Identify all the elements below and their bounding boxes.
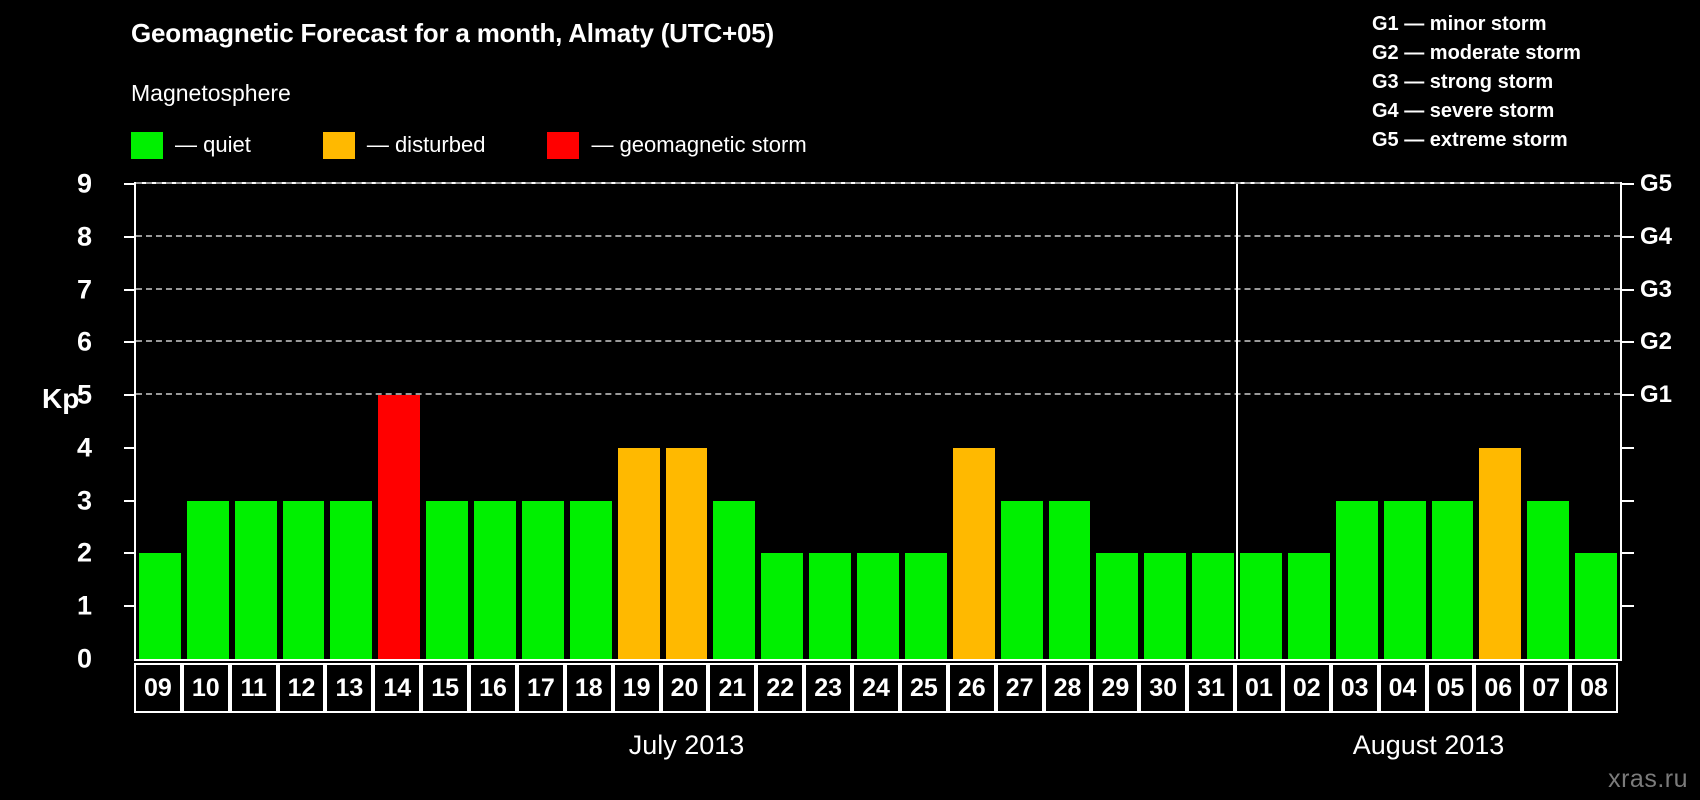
bar-slot xyxy=(1572,184,1620,659)
day-label-04[interactable]: 04 xyxy=(1379,663,1427,713)
bar-day-14[interactable] xyxy=(378,395,420,659)
bar-day-05[interactable] xyxy=(1432,501,1474,659)
bar-slot xyxy=(758,184,806,659)
bar-day-04[interactable] xyxy=(1384,501,1426,659)
day-label-03[interactable]: 03 xyxy=(1331,663,1379,713)
bar-day-11[interactable] xyxy=(235,501,277,659)
g-tick-mark-minor xyxy=(1622,447,1634,449)
bar-slot xyxy=(423,184,471,659)
y-tick-label-3: 3 xyxy=(52,485,92,516)
day-label-23[interactable]: 23 xyxy=(804,663,852,713)
bar-day-31[interactable] xyxy=(1192,553,1234,659)
bar-slot xyxy=(184,184,232,659)
month-label-july: July 2013 xyxy=(629,730,745,761)
bar-slot xyxy=(1524,184,1572,659)
y-tick-label-5: 5 xyxy=(52,380,92,411)
day-label-22[interactable]: 22 xyxy=(756,663,804,713)
bar-slot xyxy=(1141,184,1189,659)
bar-slot xyxy=(854,184,902,659)
bar-day-16[interactable] xyxy=(474,501,516,659)
y-tick-label-0: 0 xyxy=(52,644,92,675)
y-tick-label-8: 8 xyxy=(52,221,92,252)
bar-day-23[interactable] xyxy=(809,553,851,659)
bar-slot xyxy=(1285,184,1333,659)
g-tick-mark xyxy=(1622,394,1634,396)
day-label-17[interactable]: 17 xyxy=(517,663,565,713)
bar-slot xyxy=(710,184,758,659)
day-label-12[interactable]: 12 xyxy=(278,663,326,713)
day-label-15[interactable]: 15 xyxy=(421,663,469,713)
month-label-august: August 2013 xyxy=(1353,730,1505,761)
bar-day-19[interactable] xyxy=(618,448,660,659)
bar-slot xyxy=(950,184,998,659)
g-tick-mark xyxy=(1622,341,1634,343)
y-tick-label-4: 4 xyxy=(52,432,92,463)
bar-slot xyxy=(1237,184,1285,659)
bar-day-21[interactable] xyxy=(713,501,755,659)
day-label-11[interactable]: 11 xyxy=(230,663,278,713)
day-label-30[interactable]: 30 xyxy=(1139,663,1187,713)
g-tick-mark-minor xyxy=(1622,552,1634,554)
bar-day-26[interactable] xyxy=(953,448,995,659)
bar-slot xyxy=(375,184,423,659)
day-label-28[interactable]: 28 xyxy=(1044,663,1092,713)
bar-day-09[interactable] xyxy=(139,553,181,659)
bar-day-20[interactable] xyxy=(666,448,708,659)
day-label-14[interactable]: 14 xyxy=(373,663,421,713)
bar-slot xyxy=(1381,184,1429,659)
bar-slot xyxy=(471,184,519,659)
day-label-10[interactable]: 10 xyxy=(182,663,230,713)
bar-slot xyxy=(327,184,375,659)
bar-slot xyxy=(567,184,615,659)
g-tick-mark-minor xyxy=(1622,605,1634,607)
bar-day-07[interactable] xyxy=(1527,501,1569,659)
bar-day-27[interactable] xyxy=(1001,501,1043,659)
bar-slot xyxy=(519,184,567,659)
bars-layer xyxy=(136,184,1620,659)
day-label-13[interactable]: 13 xyxy=(325,663,373,713)
y-tick-label-6: 6 xyxy=(52,327,92,358)
y-tick-label-1: 1 xyxy=(52,591,92,622)
bar-slot xyxy=(902,184,950,659)
bar-day-29[interactable] xyxy=(1096,553,1138,659)
chart-plot-area: Kp 0123456789 G1G2G3G4G5 091011121314151… xyxy=(0,0,1700,800)
day-label-09[interactable]: 09 xyxy=(134,663,182,713)
bar-slot xyxy=(998,184,1046,659)
g-tick-mark xyxy=(1622,289,1634,291)
g-tick-label-g1: G1 xyxy=(1640,381,1672,409)
bar-slot xyxy=(280,184,328,659)
day-label-18[interactable]: 18 xyxy=(565,663,613,713)
bar-slot xyxy=(1476,184,1524,659)
day-label-02[interactable]: 02 xyxy=(1283,663,1331,713)
day-label-25[interactable]: 25 xyxy=(900,663,948,713)
bar-day-28[interactable] xyxy=(1049,501,1091,659)
day-label-31[interactable]: 31 xyxy=(1187,663,1235,713)
bar-day-12[interactable] xyxy=(283,501,325,659)
bar-slot xyxy=(663,184,711,659)
bar-day-22[interactable] xyxy=(761,553,803,659)
y-tick-label-2: 2 xyxy=(52,538,92,569)
bar-day-18[interactable] xyxy=(570,501,612,659)
day-label-16[interactable]: 16 xyxy=(469,663,517,713)
watermark: xras.ru xyxy=(1608,765,1688,794)
bar-slot xyxy=(136,184,184,659)
day-label-26[interactable]: 26 xyxy=(948,663,996,713)
day-axis-labels: 0910111213141516171819202122232425262728… xyxy=(134,663,1622,713)
bar-day-13[interactable] xyxy=(330,501,372,659)
day-label-07[interactable]: 07 xyxy=(1522,663,1570,713)
day-label-24[interactable]: 24 xyxy=(852,663,900,713)
bar-day-08[interactable] xyxy=(1575,553,1617,659)
bar-slot xyxy=(1333,184,1381,659)
bar-day-25[interactable] xyxy=(905,553,947,659)
bar-day-03[interactable] xyxy=(1336,501,1378,659)
bar-day-01[interactable] xyxy=(1240,553,1282,659)
bar-day-06[interactable] xyxy=(1479,448,1521,659)
bar-day-02[interactable] xyxy=(1288,553,1330,659)
g-tick-mark xyxy=(1622,183,1634,185)
g-tick-label-g2: G2 xyxy=(1640,328,1672,356)
bar-slot xyxy=(1093,184,1141,659)
day-label-27[interactable]: 27 xyxy=(996,663,1044,713)
bar-slot xyxy=(1046,184,1094,659)
g-tick-label-g3: G3 xyxy=(1640,276,1672,304)
g-tick-label-g5: G5 xyxy=(1640,170,1672,198)
bar-slot xyxy=(1429,184,1477,659)
bar-day-15[interactable] xyxy=(426,501,468,659)
g-tick-label-g4: G4 xyxy=(1640,223,1672,251)
day-label-05[interactable]: 05 xyxy=(1427,663,1475,713)
day-label-21[interactable]: 21 xyxy=(708,663,756,713)
bar-slot xyxy=(1189,184,1237,659)
day-label-19[interactable]: 19 xyxy=(613,663,661,713)
day-label-01[interactable]: 01 xyxy=(1235,663,1283,713)
day-label-20[interactable]: 20 xyxy=(661,663,709,713)
day-label-29[interactable]: 29 xyxy=(1091,663,1139,713)
y-tick-label-9: 9 xyxy=(52,169,92,200)
day-label-08[interactable]: 08 xyxy=(1570,663,1618,713)
bar-slot xyxy=(615,184,663,659)
day-label-06[interactable]: 06 xyxy=(1474,663,1522,713)
bar-day-30[interactable] xyxy=(1144,553,1186,659)
bar-slot xyxy=(806,184,854,659)
y-tick-label-7: 7 xyxy=(52,274,92,305)
bar-day-24[interactable] xyxy=(857,553,899,659)
bar-day-10[interactable] xyxy=(187,501,229,659)
g-tick-mark-minor xyxy=(1622,500,1634,502)
bar-day-17[interactable] xyxy=(522,501,564,659)
bar-slot xyxy=(232,184,280,659)
g-tick-mark xyxy=(1622,236,1634,238)
